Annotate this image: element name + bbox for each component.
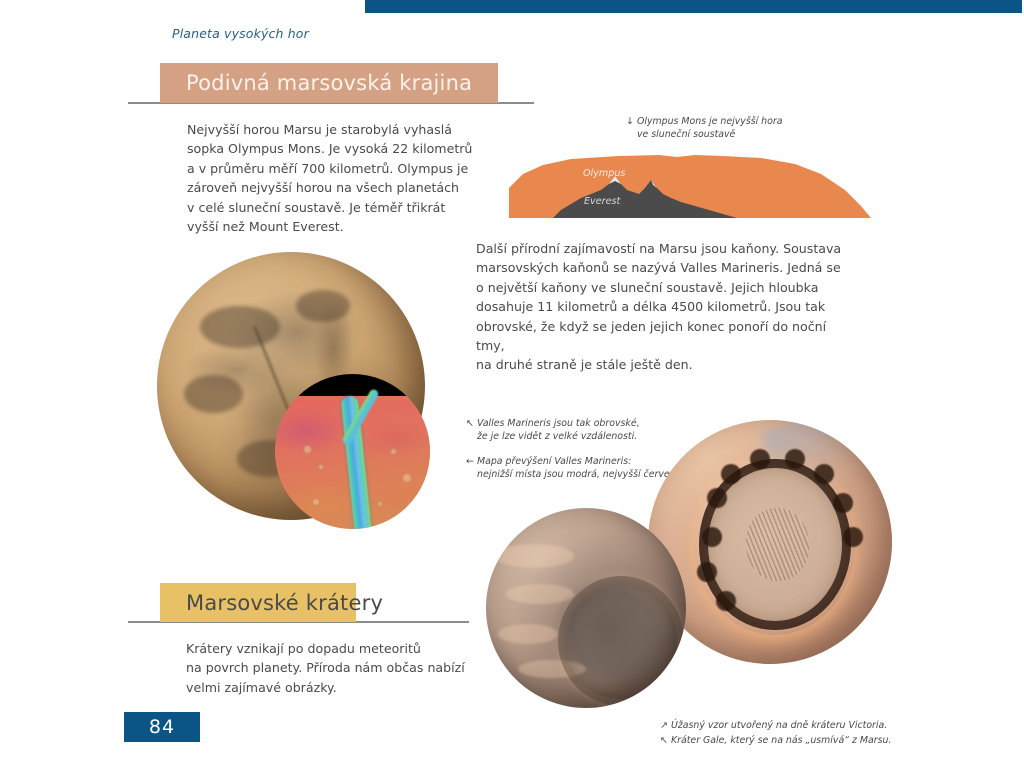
arrow-left-icon: ←	[466, 456, 477, 468]
caption-valles-marineris-photo: ↖Valles Marineris jsou tak obrovské, že …	[466, 406, 640, 443]
section1-heading-text: Podivná marsovská krajina	[186, 71, 472, 95]
caption-valles-marineris-map-text: Mapa převýšení Valles Marineris: nejnižš…	[477, 456, 684, 481]
page-number-badge: 84	[124, 712, 200, 742]
section2-heading-bar: Marsovské krátery	[160, 583, 356, 622]
arrow-up-left-icon: ↖	[660, 735, 671, 747]
arrow-up-left-icon: ↖	[466, 418, 477, 430]
section2-heading-text: Marsovské krátery	[186, 591, 383, 615]
caption-valles-marineris-photo-text: Valles Marineris jsou tak obrovské, že j…	[477, 418, 640, 443]
paragraph-craters: Krátery vznikají po dopadu meteoritů na …	[186, 639, 476, 697]
caption-olympus-diagram: ↓Olympus Mons je nejvyšší hora ve sluneč…	[626, 104, 782, 141]
profile-label-everest: Everest	[584, 196, 620, 207]
section1-heading-bar: Podivná marsovská krajina	[160, 63, 498, 103]
top-accent-bar	[365, 0, 1022, 13]
running-head: Planeta vysokých hor	[172, 26, 309, 41]
valles-marineris-topographic-map	[275, 374, 430, 529]
profile-label-olympus: Olympus	[583, 168, 625, 179]
caption-crater-gale: ↖Kráter Gale, který se na nás „usmívá“ z…	[660, 723, 891, 748]
paragraph-canyons: Další přírodní zajímavostí na Marsu jsou…	[476, 239, 856, 375]
caption-valles-marineris-map: ←Mapa převýšení Valles Marineris: nejniž…	[466, 444, 684, 481]
textbook-page: Planeta vysokých hor Podivná marsovská k…	[0, 0, 1024, 768]
caption-olympus-diagram-text: Olympus Mons je nejvyšší hora ve slunečn…	[637, 116, 782, 141]
olympus-everest-profile-diagram: Olympus Everest	[509, 148, 871, 218]
caption-crater-gale-text: Kráter Gale, který se na nás „usmívá“ z …	[671, 735, 891, 747]
arrow-down-icon: ↓	[626, 116, 637, 128]
paragraph-olympus: Nejvyšší horou Marsu je starobylá vyhasl…	[187, 120, 477, 236]
crater-gale-photo	[486, 508, 686, 708]
crater-victoria-photo	[648, 420, 892, 664]
